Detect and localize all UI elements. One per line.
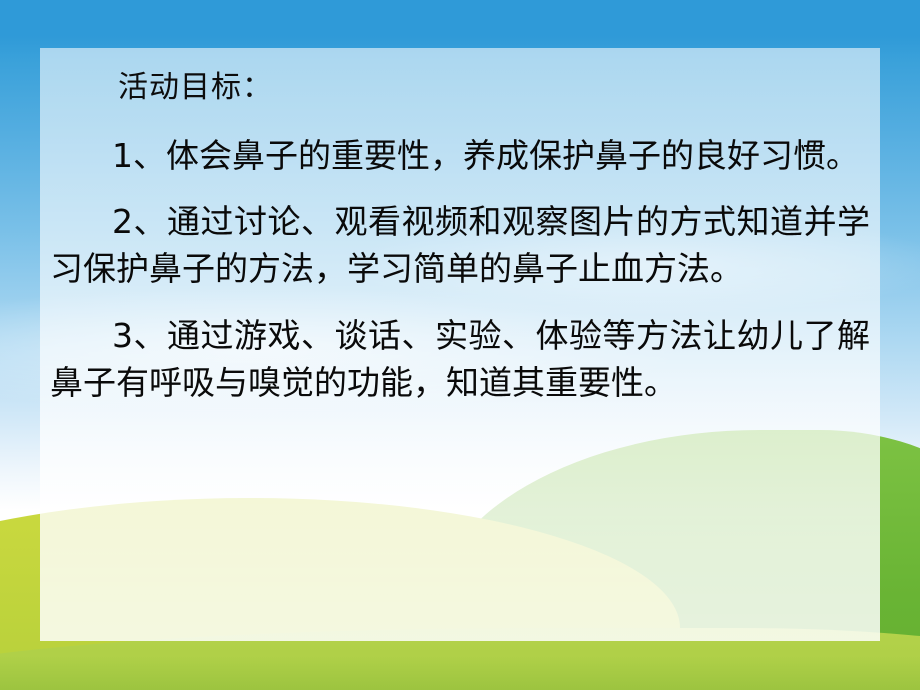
ground-shadow [0, 656, 920, 690]
goal-item-2: 2、通过讨论、观看视频和观察图片的方式知道并学习保护鼻子的方法，学习简单的鼻子止… [48, 199, 872, 293]
content-panel: 活动目标： 1、体会鼻子的重要性，养成保护鼻子的良好习惯。 2、通过讨论、观看视… [40, 48, 880, 641]
slide: 活动目标： 1、体会鼻子的重要性，养成保护鼻子的良好习惯。 2、通过讨论、观看视… [0, 0, 920, 690]
page-title: 活动目标： [48, 68, 872, 109]
goal-item-3: 3、通过游戏、谈话、实验、体验等方法让幼儿了解鼻子有呼吸与嗅觉的功能，知道其重要… [48, 313, 872, 407]
goal-item-1: 1、体会鼻子的重要性，养成保护鼻子的良好习惯。 [48, 133, 872, 180]
